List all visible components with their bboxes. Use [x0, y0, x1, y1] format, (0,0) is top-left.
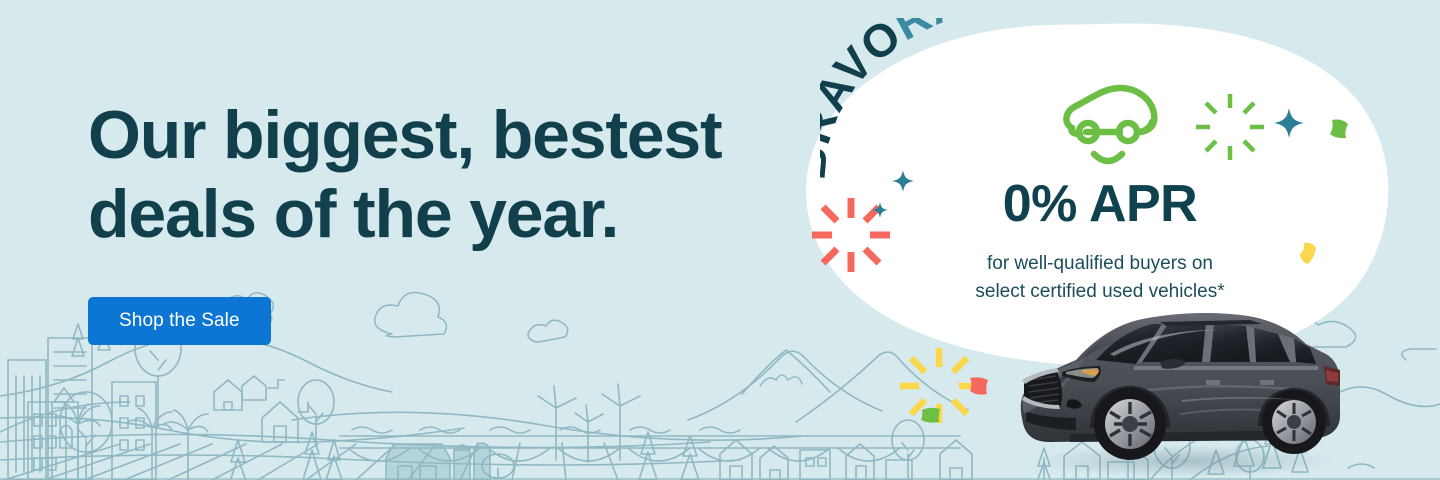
headline-line-2: deals of the year. — [88, 175, 748, 254]
shop-the-sale-button[interactable]: Shop the Sale — [88, 297, 271, 345]
green-confetti-blob — [920, 406, 942, 424]
car-icon — [1058, 80, 1166, 170]
svg-text:BRAVORAMA: BRAVORAMA — [820, 18, 1041, 182]
suv-photo — [1010, 296, 1360, 480]
headline-line-1: Our biggest, bestest — [88, 96, 748, 175]
offer-headline: 0% APR — [900, 174, 1300, 234]
page-title: Our biggest, bestest deals of the year. — [88, 96, 748, 254]
coral-confetti-blob — [968, 376, 990, 396]
brand-rama: RAMA — [885, 18, 1041, 50]
banner-copy: Our biggest, bestest deals of the year. … — [88, 96, 748, 345]
disclaimer-line-1: for well-qualified buyers on — [880, 250, 1320, 278]
promotional-banner: Our biggest, bestest deals of the year. … — [0, 0, 1440, 480]
brand-bravo: BRAVO — [820, 18, 911, 182]
